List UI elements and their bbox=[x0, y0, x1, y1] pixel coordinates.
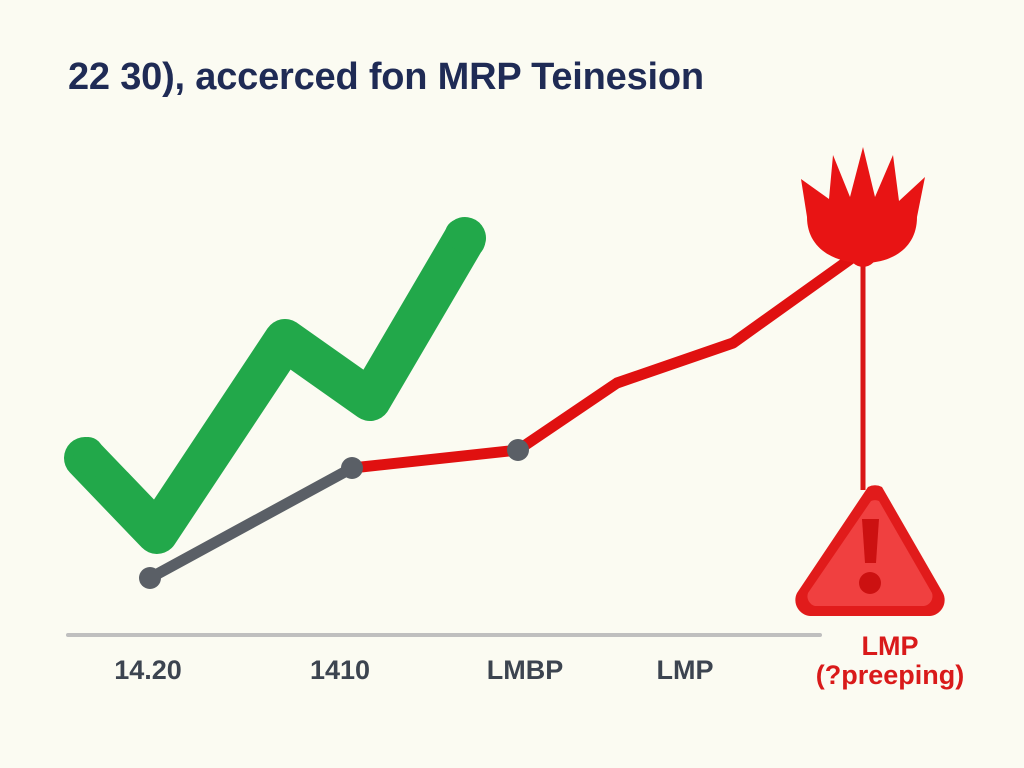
x-tick-label-1: 1410 bbox=[310, 655, 370, 686]
x-tick-label-2: LMBP bbox=[487, 655, 564, 686]
x-tick-label-4-line1: LMP bbox=[816, 632, 965, 661]
x-tick-label-0: 14.20 bbox=[114, 655, 182, 686]
data-point-marker[interactable] bbox=[341, 457, 363, 479]
chart-canvas: 22 30), accerced fon MRP Teinesion bbox=[0, 0, 1024, 768]
data-point-marker[interactable] bbox=[139, 567, 161, 589]
x-tick-label-4-line2: (?preeping) bbox=[816, 661, 965, 690]
x-tick-label-4-alert: LMP (?preeping) bbox=[816, 632, 965, 690]
warning-triangle-icon[interactable] bbox=[795, 485, 944, 616]
series-baseline-trend-line bbox=[85, 238, 465, 533]
x-tick-label-3: LMP bbox=[657, 655, 714, 686]
data-point-marker[interactable] bbox=[507, 439, 529, 461]
red-flower-burst-icon bbox=[801, 147, 925, 267]
